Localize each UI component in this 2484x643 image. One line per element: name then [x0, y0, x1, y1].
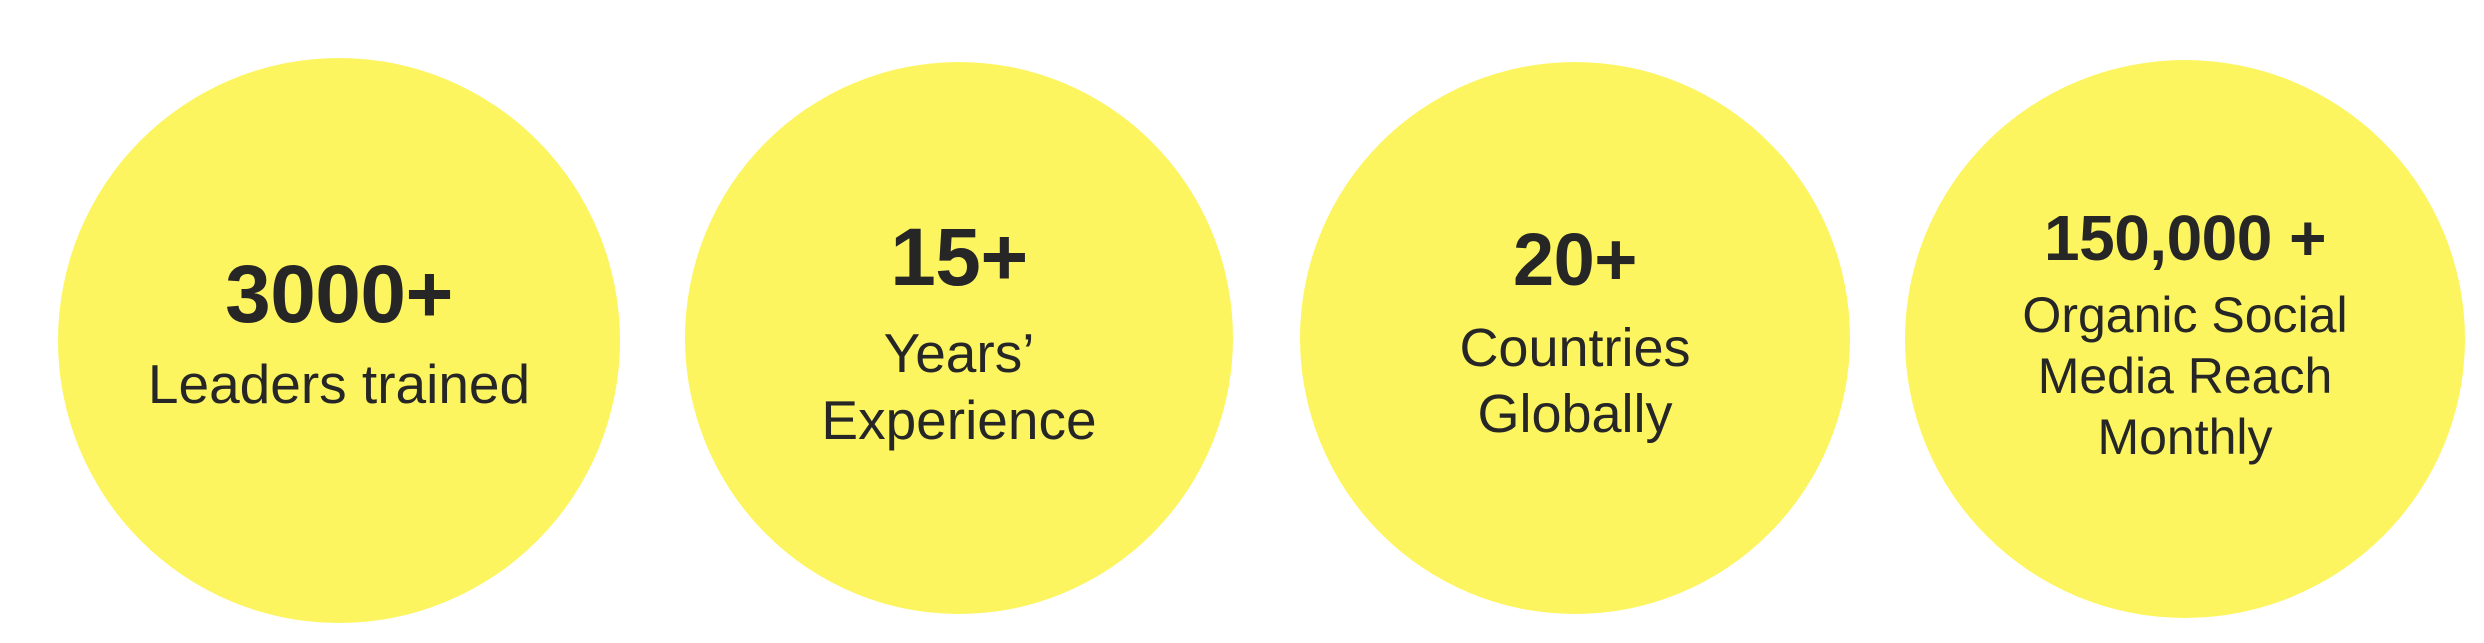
stat-label-line: Organic Social	[2022, 285, 2347, 346]
stat-label-line: Monthly	[2022, 407, 2347, 468]
stat-number: 3000+	[225, 253, 453, 337]
stat-label-line: Countries	[1459, 316, 1690, 382]
stat-circle-years-experience: 15+ Years’ Experience	[685, 62, 1233, 614]
stat-label-line: Years’	[821, 320, 1096, 387]
stat-number: 20+	[1513, 222, 1637, 297]
stat-circle-organic-social-reach: 150,000 + Organic Social Media Reach Mon…	[1905, 60, 2465, 618]
stat-label-line: Leaders trained	[148, 351, 530, 418]
stat-circle-countries-globally: 20+ Countries Globally	[1300, 62, 1850, 614]
stat-label: Leaders trained	[148, 351, 530, 418]
stat-label: Years’ Experience	[821, 320, 1096, 454]
stat-label: Organic Social Media Reach Monthly	[2022, 285, 2347, 468]
stat-label-line: Globally	[1459, 382, 1690, 448]
stat-circle-leaders-trained: 3000+ Leaders trained	[58, 58, 620, 623]
stat-label: Countries Globally	[1459, 316, 1690, 448]
stat-number: 150,000 +	[2044, 206, 2326, 271]
stat-number: 15+	[890, 216, 1028, 300]
stat-label-line: Media Reach	[2022, 346, 2347, 407]
stat-label-line: Experience	[821, 387, 1096, 454]
stats-strip: 3000+ Leaders trained 15+ Years’ Experie…	[0, 0, 2484, 643]
